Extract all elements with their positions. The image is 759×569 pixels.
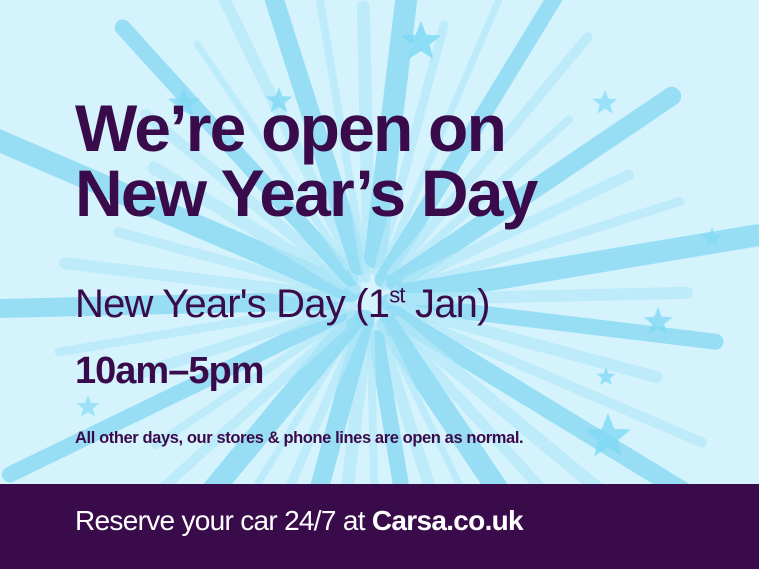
date-prefix: New Year's Day (1 — [75, 282, 389, 326]
page-title: We’re open on New Year’s Day — [75, 96, 715, 225]
footer-bar: Reserve your car 24/7 at Carsa.co.uk — [0, 484, 759, 569]
opening-hours: 10am–5pm — [75, 352, 263, 392]
footer-lead-text: Reserve your car 24/7 at — [75, 505, 372, 536]
footer-cta: Reserve your car 24/7 at Carsa.co.uk — [75, 505, 523, 537]
promotional-banner: We’re open on New Year’s Day New Year's … — [0, 0, 759, 569]
ordinal-suffix: st — [389, 283, 405, 308]
date-suffix: Jan) — [405, 282, 490, 326]
brand-name[interactable]: Carsa.co.uk — [372, 505, 523, 536]
banner-content: We’re open on New Year’s Day New Year's … — [0, 0, 759, 484]
date-line: New Year's Day (1st Jan) — [75, 283, 490, 325]
fineprint-note: All other days, our stores & phone lines… — [75, 429, 523, 448]
